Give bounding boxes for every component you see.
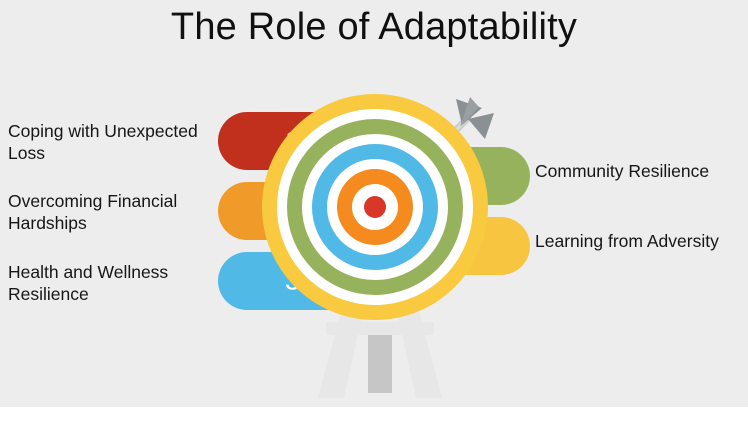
label-item-2: Overcoming Financial Hardships [8, 190, 213, 235]
page-title: The Role of Adaptability [0, 6, 748, 49]
bullseye-red [364, 196, 386, 218]
label-item-4: Community Resilience [535, 160, 745, 182]
label-item-1: Coping with Unexpected Loss [8, 120, 213, 165]
label-item-3: Health and Wellness Resilience [8, 261, 213, 306]
bottom-strip [0, 407, 748, 421]
slide-canvas: 1 2 3 4 5 [0, 0, 748, 421]
label-item-5: Learning from Adversity [535, 230, 747, 252]
target-bullseye [262, 94, 488, 320]
